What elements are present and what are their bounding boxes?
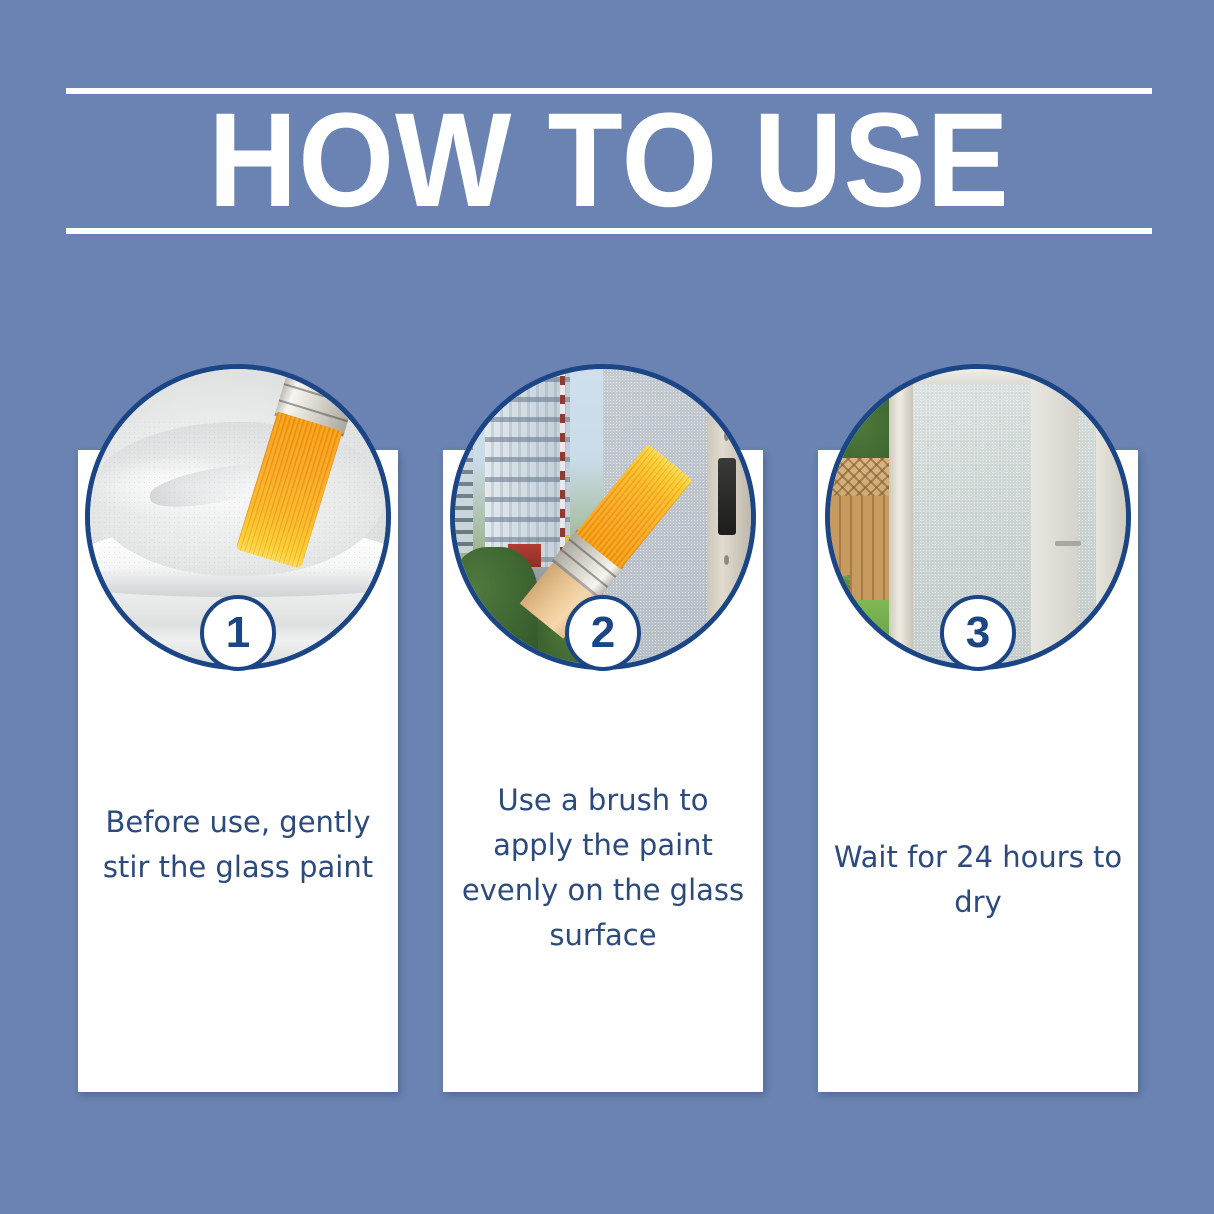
door-latch: [1055, 541, 1081, 546]
step-number-1: 1: [226, 611, 250, 655]
door-vertical-rail: [1031, 369, 1078, 665]
step-badge-1: 1: [200, 595, 276, 671]
door-right-frame: [1096, 369, 1126, 665]
window-screw-bottom: [724, 555, 729, 564]
step-number-2: 2: [591, 611, 615, 655]
step-badge-2: 2: [565, 595, 641, 671]
step-card-1: 1 Before use, gently stir the glass pain…: [78, 450, 398, 1092]
window-handle: [718, 458, 737, 535]
title-rule-bottom: [66, 228, 1152, 234]
step-card-3: 3 Wait for 24 hours to dry: [818, 450, 1138, 1092]
step-caption-1: Before use, gently stir the glass paint: [92, 800, 384, 890]
step-badge-3: 3: [940, 595, 1016, 671]
door-jamb: [889, 369, 913, 665]
garden-plant: [830, 535, 850, 624]
background-building: [455, 410, 473, 552]
window-screw-top: [724, 431, 729, 440]
page-title: HOW TO USE: [109, 94, 1108, 228]
step-caption-2: Use a brush to apply the paint evenly on…: [457, 778, 749, 958]
fence-lattice-top: [830, 458, 889, 499]
header-banner: HOW TO USE: [66, 88, 1152, 238]
step-caption-3: Wait for 24 hours to dry: [832, 835, 1124, 925]
window-frame: [707, 369, 751, 665]
step-card-2: 2 Use a brush to apply the paint evenly …: [443, 450, 763, 1092]
step-number-3: 3: [966, 611, 990, 655]
garden-view-outside: [830, 369, 889, 665]
garden-trees: [830, 369, 889, 464]
